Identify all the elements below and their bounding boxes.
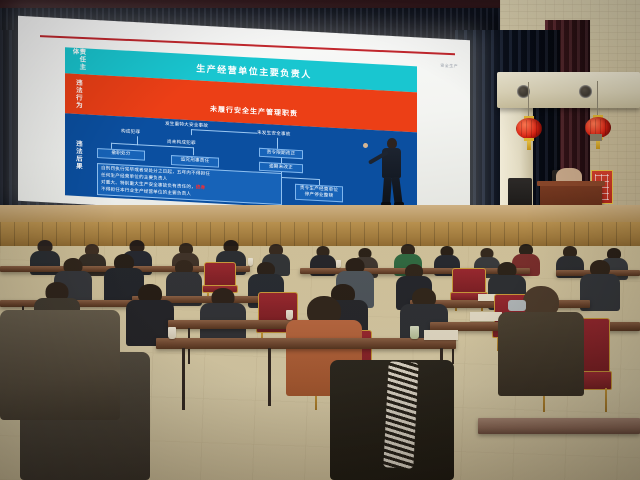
slide-band-consequence: 违法后果: [65, 113, 91, 196]
table-leg: [268, 348, 271, 406]
presenter: [375, 138, 409, 206]
slide-watermark: 安全生产: [440, 63, 458, 70]
conference-hall-photo: 安全生产 责任主体 违法行为 违法后果 生产经营单位主要负责人 未履行安全生产管…: [0, 0, 640, 480]
text-line-3-highlight: 终身: [196, 185, 206, 191]
node-criminal-liability: 追究刑事责任: [171, 155, 219, 168]
node-suspend-business: 责令生产经营单位 停产停业整顿: [295, 184, 343, 203]
node-no-accident: 未发生安全事故: [257, 130, 291, 138]
chair-back: [204, 262, 236, 287]
chair-leg: [605, 388, 607, 412]
red-lantern-left: [516, 118, 542, 140]
paper-cup: [410, 326, 419, 339]
lantern-cord: [597, 81, 598, 117]
chair-back: [452, 268, 486, 294]
slide-band-subject: 责任主体: [65, 47, 91, 74]
slide-diagram: 责任主体 违法行为 违法后果 生产经营单位主要负责人 未履行安全生产管理职责 发…: [65, 47, 417, 214]
slide-band-act: 违法行为: [65, 73, 91, 114]
slide-consequence-panel: 发生重特大安全事故 未发生安全事故 构成犯罪 尚未构成犯罪 撤职处分 追究刑事责…: [91, 115, 417, 215]
presenter-leg-left: [382, 177, 392, 205]
lantern-cord: [528, 82, 529, 118]
downlight-icon: [579, 85, 592, 98]
lantern-tassel: [527, 141, 531, 150]
slide-text-block: 自刑罚执行完毕或者受处分之日起，五年内不得担任 任何生产经营单位的主要负责人 对…: [97, 163, 282, 205]
presenter-hand: [363, 143, 368, 148]
lantern-tassel: [596, 140, 600, 149]
paper-cup: [168, 327, 176, 339]
coat-draped-on-chair: [0, 310, 120, 420]
houndstooth-scarf: [383, 361, 419, 468]
audience-table-row: [156, 338, 456, 349]
node-constitutes-crime: 构成犯罪: [121, 128, 140, 135]
table-leg: [182, 348, 185, 410]
lantern-body: [516, 118, 542, 139]
node-major-accident: 发生重特大安全事故: [165, 121, 208, 129]
node-dismissal: 撤职处分: [97, 148, 145, 161]
column-soffit: [497, 72, 640, 108]
face-mask: [508, 300, 526, 311]
wall-sign: [590, 134, 602, 141]
attendee-body: [498, 312, 584, 396]
audience-table-row: [478, 418, 640, 434]
seated-attendee: [200, 288, 246, 344]
handout-paper: [424, 330, 458, 340]
seated-attendee: [126, 284, 174, 342]
podium-top: [537, 181, 605, 186]
